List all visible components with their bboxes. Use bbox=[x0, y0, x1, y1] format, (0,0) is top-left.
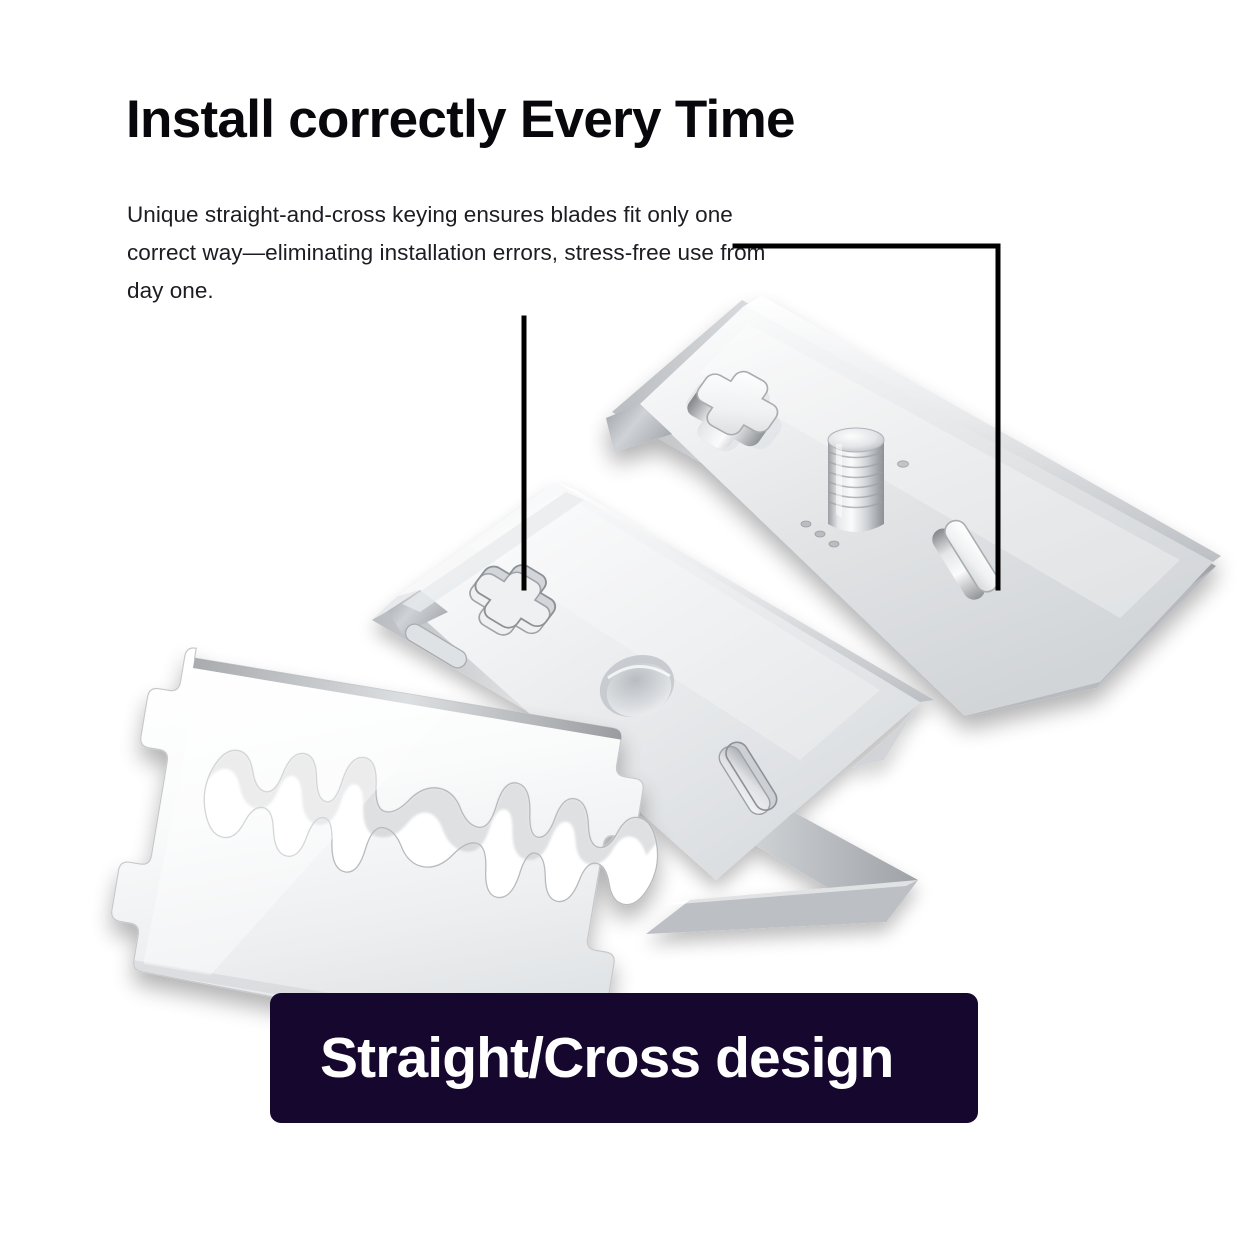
page-title: Install correctly Every Time bbox=[126, 92, 795, 148]
description-text: Unique straight-and-cross keying ensures… bbox=[127, 196, 787, 310]
feature-banner-label: Straight/Cross design bbox=[270, 1030, 893, 1087]
marketing-image: Install correctly Every Time Unique stra… bbox=[0, 0, 1250, 1250]
feature-banner: Straight/Cross design bbox=[270, 993, 978, 1123]
alignment-dimple-right bbox=[898, 461, 909, 467]
threaded-post bbox=[828, 428, 884, 532]
